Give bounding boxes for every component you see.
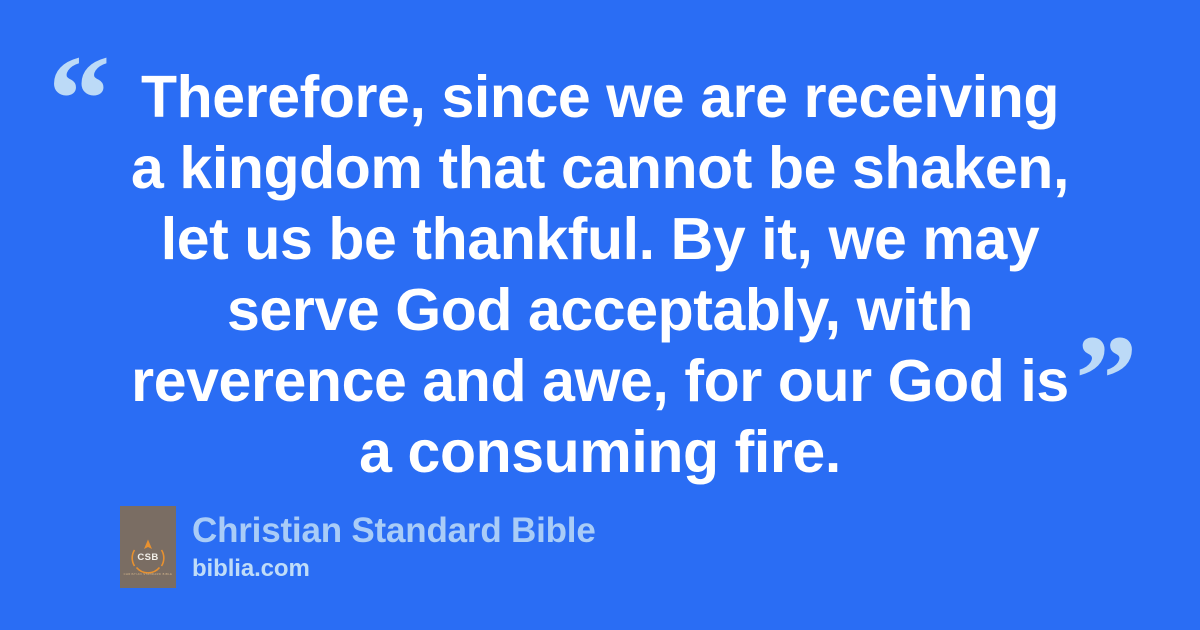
svg-text:CSB: CSB — [137, 552, 158, 563]
cover-micro-text: CHRISTIAN STANDARD BIBLE — [124, 573, 173, 576]
quote-card: “ Therefore, since we are receiving a ki… — [0, 0, 1200, 470]
attribution: CSB CHRISTIAN STANDARD BIBLE Christian S… — [120, 506, 596, 588]
attribution-text: Christian Standard Bible biblia.com — [192, 511, 596, 584]
open-quote-icon: “ — [48, 38, 111, 163]
source-site-label[interactable]: biblia.com — [192, 554, 596, 584]
csb-emblem-icon: CSB — [129, 536, 167, 574]
quote-text: Therefore, since we are receiving a king… — [130, 62, 1070, 488]
book-cover-thumbnail: CSB CHRISTIAN STANDARD BIBLE — [120, 506, 176, 588]
bible-version-title: Christian Standard Bible — [192, 511, 596, 551]
close-quote-icon: ” — [1075, 318, 1138, 443]
